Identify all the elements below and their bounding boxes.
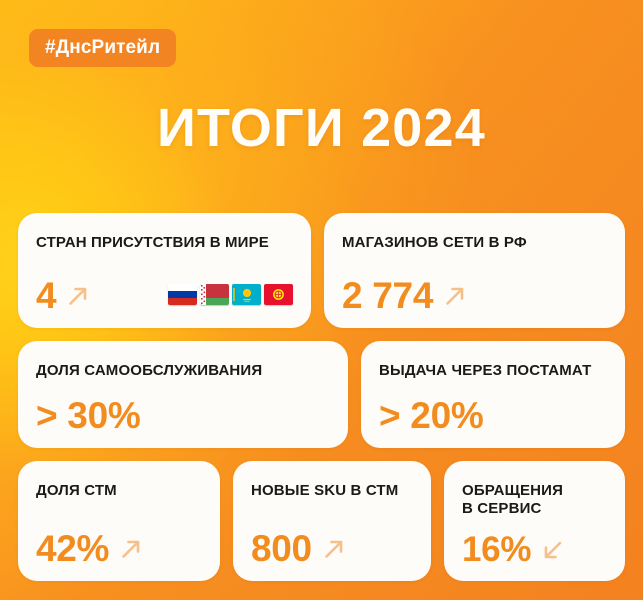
infographic-canvas: #ДнсРитейл ИТОГИ 2024 СТРАН ПРИСУТСТВИЯ … (0, 0, 643, 600)
page-title: ИТОГИ 2024 (0, 101, 643, 155)
trend-up-arrow-icon (442, 283, 468, 309)
stats-card-grid: СТРАН ПРИСУТСТВИЯ В МИРЕ 4 (18, 213, 625, 581)
stat-card-title: НОВЫЕ SKU В СТМ (251, 482, 413, 499)
stats-row-1: СТРАН ПРИСУТСТВИЯ В МИРЕ 4 (18, 213, 625, 328)
stat-card-new-sku-private-label: НОВЫЕ SKU В СТМ 800 (233, 461, 431, 581)
stat-card-value-row: > 30% (36, 397, 330, 434)
stat-card-value: > 20% (379, 397, 483, 434)
stat-card-self-service-share: ДОЛЯ САМООБСЛУЖИВАНИЯ > 30% (18, 341, 348, 448)
stat-card-postamat-delivery: ВЫДАЧА ЧЕРЕЗ ПОСТАМАТ > 20% (361, 341, 625, 448)
flag-kyrgyzstan-icon (264, 284, 293, 305)
hashtag-badge: #ДнсРитейл (29, 29, 176, 67)
country-flags (168, 284, 293, 307)
stats-row-3: ДОЛЯ СТМ 42% НОВЫЕ SKU В СТМ 800 (18, 461, 625, 581)
stat-card-value-row: 42% (36, 530, 202, 567)
stat-card-service-requests: ОБРАЩЕНИЯ В СЕРВИС 16% (444, 461, 625, 581)
stat-card-value: 800 (251, 530, 312, 567)
stat-card-private-label-share: ДОЛЯ СТМ 42% (18, 461, 220, 581)
stat-card-title: СТРАН ПРИСУТСТВИЯ В МИРЕ (36, 234, 293, 251)
stat-card-value: > 30% (36, 397, 140, 434)
stat-card-value: 16% (462, 532, 531, 567)
stat-card-value-row: 4 (36, 277, 293, 314)
stat-card-value: 4 (36, 277, 56, 314)
trend-up-arrow-icon (118, 536, 144, 562)
stat-card-value-row: 16% (462, 532, 607, 567)
stat-card-title: МАГАЗИНОВ СЕТИ В РФ (342, 234, 607, 251)
stat-card-value-row: 800 (251, 530, 413, 567)
stat-card-value-row: > 20% (379, 397, 607, 434)
stat-card-value: 2 774 (342, 277, 433, 314)
flag-russia-icon (168, 284, 197, 305)
flag-belarus-icon (200, 284, 229, 305)
stat-card-title: ВЫДАЧА ЧЕРЕЗ ПОСТАМАТ (379, 362, 607, 379)
stats-row-2: ДОЛЯ САМООБСЛУЖИВАНИЯ > 30% ВЫДАЧА ЧЕРЕЗ… (18, 341, 625, 448)
trend-up-arrow-icon (321, 536, 347, 562)
stat-card-stores-in-russia: МАГАЗИНОВ СЕТИ В РФ 2 774 (324, 213, 625, 328)
trend-up-arrow-icon (65, 283, 91, 309)
stat-card-title: ДОЛЯ САМООБСЛУЖИВАНИЯ (36, 362, 330, 379)
stat-card-countries-presence: СТРАН ПРИСУТСТВИЯ В МИРЕ 4 (18, 213, 311, 328)
stat-card-title: ДОЛЯ СТМ (36, 482, 202, 499)
trend-down-arrow-icon (540, 537, 566, 563)
stat-card-title: ОБРАЩЕНИЯ В СЕРВИС (462, 482, 607, 518)
flag-kazakhstan-icon (232, 284, 261, 305)
stat-card-value-row: 2 774 (342, 277, 607, 314)
stat-card-value: 42% (36, 530, 109, 567)
